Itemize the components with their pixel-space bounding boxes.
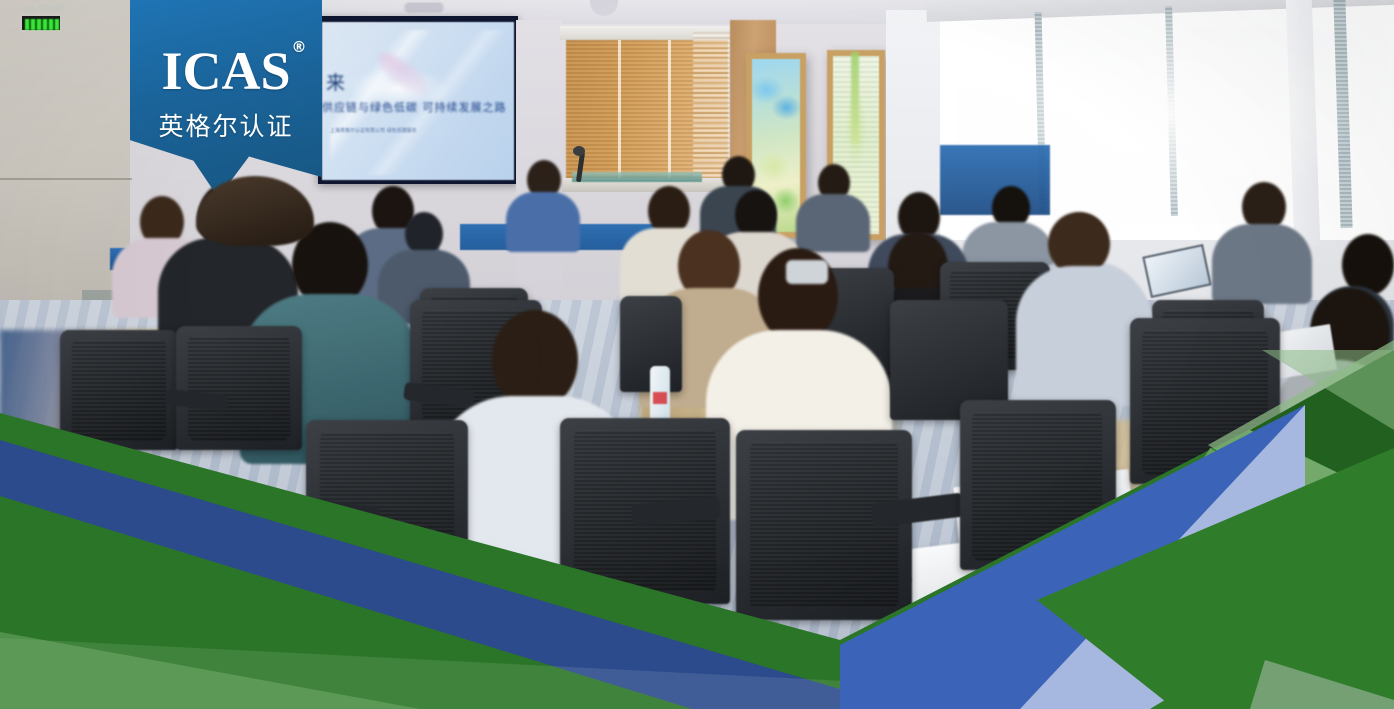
banner-image: 来 供应链与绿色低碳 可持续发展之路 上海英格尔认证有限公司 绿色低碳服务 IC… (0, 0, 1394, 709)
